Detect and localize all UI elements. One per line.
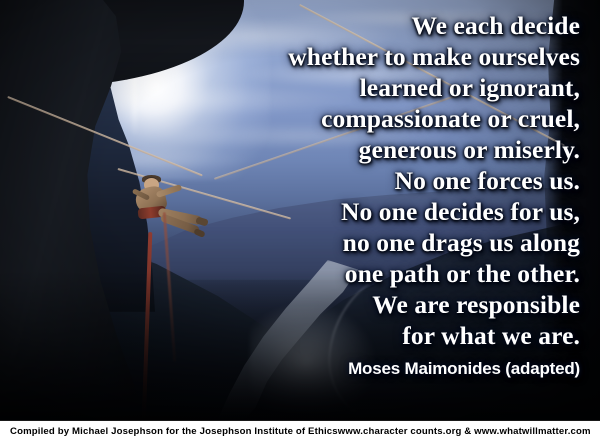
footer-website-text[interactable]: www.character counts.org & www.whatwillm… (338, 426, 600, 437)
quote-line: for what we are. (160, 320, 580, 351)
quote-line: whether to make ourselves (160, 41, 580, 72)
quote-poster: We each decide whether to make ourselves… (0, 0, 600, 442)
footer-bar: Compiled by Michael Josephson for the Jo… (0, 420, 600, 442)
quote-line: learned or ignorant, (160, 72, 580, 103)
quote-line: generous or miserly. (160, 134, 580, 165)
quote-line: no one drags us along (160, 227, 580, 258)
quote-text-block: We each decide whether to make ourselves… (160, 10, 580, 379)
quote-line: We each decide (160, 10, 580, 41)
footer-credit-text: Compiled by Michael Josephson for the Jo… (0, 426, 338, 437)
quote-attribution: Moses Maimonides (adapted) (160, 359, 580, 379)
quote-line: No one forces us. (160, 165, 580, 196)
quote-line: compassionate or cruel, (160, 103, 580, 134)
quote-line: We are responsible (160, 289, 580, 320)
quote-line: one path or the other. (160, 258, 580, 289)
quote-line: No one decides for us, (160, 196, 580, 227)
